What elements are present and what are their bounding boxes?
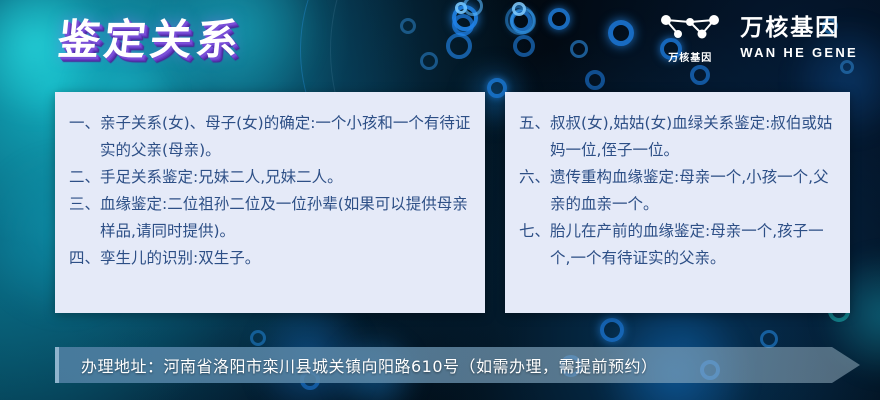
list-item: 二、 手足关系鉴定:兄妹二人,兄妹二人。 — [69, 164, 473, 191]
list-item: 六、 遗传重构血缘鉴定:母亲一个,小孩一个,父亲的血亲一个。 — [519, 164, 838, 218]
list-item: 一、 亲子关系(女)、母子(女)的确定:一个小孩和一个有待证实的父亲(母亲)。 — [69, 110, 473, 164]
page-title: 鉴定关系 — [55, 14, 244, 66]
list-item-text: 手足关系鉴定:兄妹二人,兄妹二人。 — [100, 164, 473, 191]
brand-mark-label: 万核基因 — [668, 49, 712, 64]
promo-banner: 鉴定关系 — [0, 0, 880, 400]
glow-ring — [600, 318, 624, 342]
list-item-text: 孪生儿的识别:双生子。 — [100, 245, 473, 272]
glow-ring — [505, 5, 535, 35]
list-item-number: 七、 — [519, 218, 550, 272]
glow-ring — [513, 35, 535, 57]
address-bar-text: 办理地址：河南省洛阳市栾川县城关镇向阳路610号（如需办理，需提前预约） — [81, 347, 658, 383]
glow-ring — [510, 10, 532, 32]
molecule-network-icon — [656, 12, 724, 47]
list-item-text: 遗传重构血缘鉴定:母亲一个,小孩一个,父亲的血亲一个。 — [550, 164, 838, 218]
address-bar-accent — [55, 347, 59, 383]
glow-ring — [760, 330, 778, 348]
list-item-number: 五、 — [519, 110, 550, 164]
glow-ring — [690, 65, 710, 85]
glow-ring — [452, 14, 474, 36]
list-item: 七、 胎儿在产前的血缘鉴定:母亲一个,孩子一个,一个有待证实的父亲。 — [519, 218, 838, 272]
list-item-number: 六、 — [519, 164, 550, 218]
glow-ring — [452, 5, 478, 31]
list-item-text: 血缘鉴定:二位祖孙二位及一位孙辈(如果可以提供母亲样品,请同时提供)。 — [100, 191, 473, 245]
glow-ring — [455, 2, 467, 14]
list-item-number: 一、 — [69, 110, 100, 164]
brand-wordmark: 万核基因 WAN HE GENE — [740, 17, 858, 59]
glow-ring — [608, 20, 634, 46]
brand-logo: 万核基因 万核基因 WAN HE GENE — [656, 12, 858, 64]
glow-ring — [585, 70, 605, 90]
brand-name-cn: 万核基因 — [740, 17, 858, 40]
list-item-text: 亲子关系(女)、母子(女)的确定:一个小孩和一个有待证实的父亲(母亲)。 — [100, 110, 473, 164]
glow-ring — [250, 330, 266, 346]
glow-ring — [463, 0, 483, 16]
list-item-number: 四、 — [69, 245, 100, 272]
service-list-card-right: 五、 叔叔(女),姑姑(女)血绿关系鉴定:叔伯或姑妈一位,侄子一位。 六、 遗传… — [505, 92, 850, 313]
list-item: 四、 孪生儿的识别:双生子。 — [69, 245, 473, 272]
service-list-card-left: 一、 亲子关系(女)、母子(女)的确定:一个小孩和一个有待证实的父亲(母亲)。 … — [55, 92, 485, 313]
brand-name-en: WAN HE GENE — [740, 46, 858, 59]
list-item: 五、 叔叔(女),姑姑(女)血绿关系鉴定:叔伯或姑妈一位,侄子一位。 — [519, 110, 838, 164]
list-item: 三、 血缘鉴定:二位祖孙二位及一位孙辈(如果可以提供母亲样品,请同时提供)。 — [69, 191, 473, 245]
glow-ring — [548, 8, 570, 30]
glow-ring — [570, 40, 588, 58]
glow-ring — [510, 8, 536, 34]
list-item-number: 二、 — [69, 164, 100, 191]
glow-ring — [512, 2, 526, 16]
glow-ring — [487, 78, 507, 98]
glow-ring — [400, 18, 416, 34]
brand-mark: 万核基因 — [656, 12, 724, 64]
address-bar: 办理地址：河南省洛阳市栾川县城关镇向阳路610号（如需办理，需提前预约） — [55, 347, 860, 383]
list-item-text: 胎儿在产前的血缘鉴定:母亲一个,孩子一个,一个有待证实的父亲。 — [550, 218, 838, 272]
list-item-text: 叔叔(女),姑姑(女)血绿关系鉴定:叔伯或姑妈一位,侄子一位。 — [550, 110, 838, 164]
glow-ring — [420, 52, 438, 70]
glow-ring — [446, 33, 472, 59]
list-item-number: 三、 — [69, 191, 100, 245]
